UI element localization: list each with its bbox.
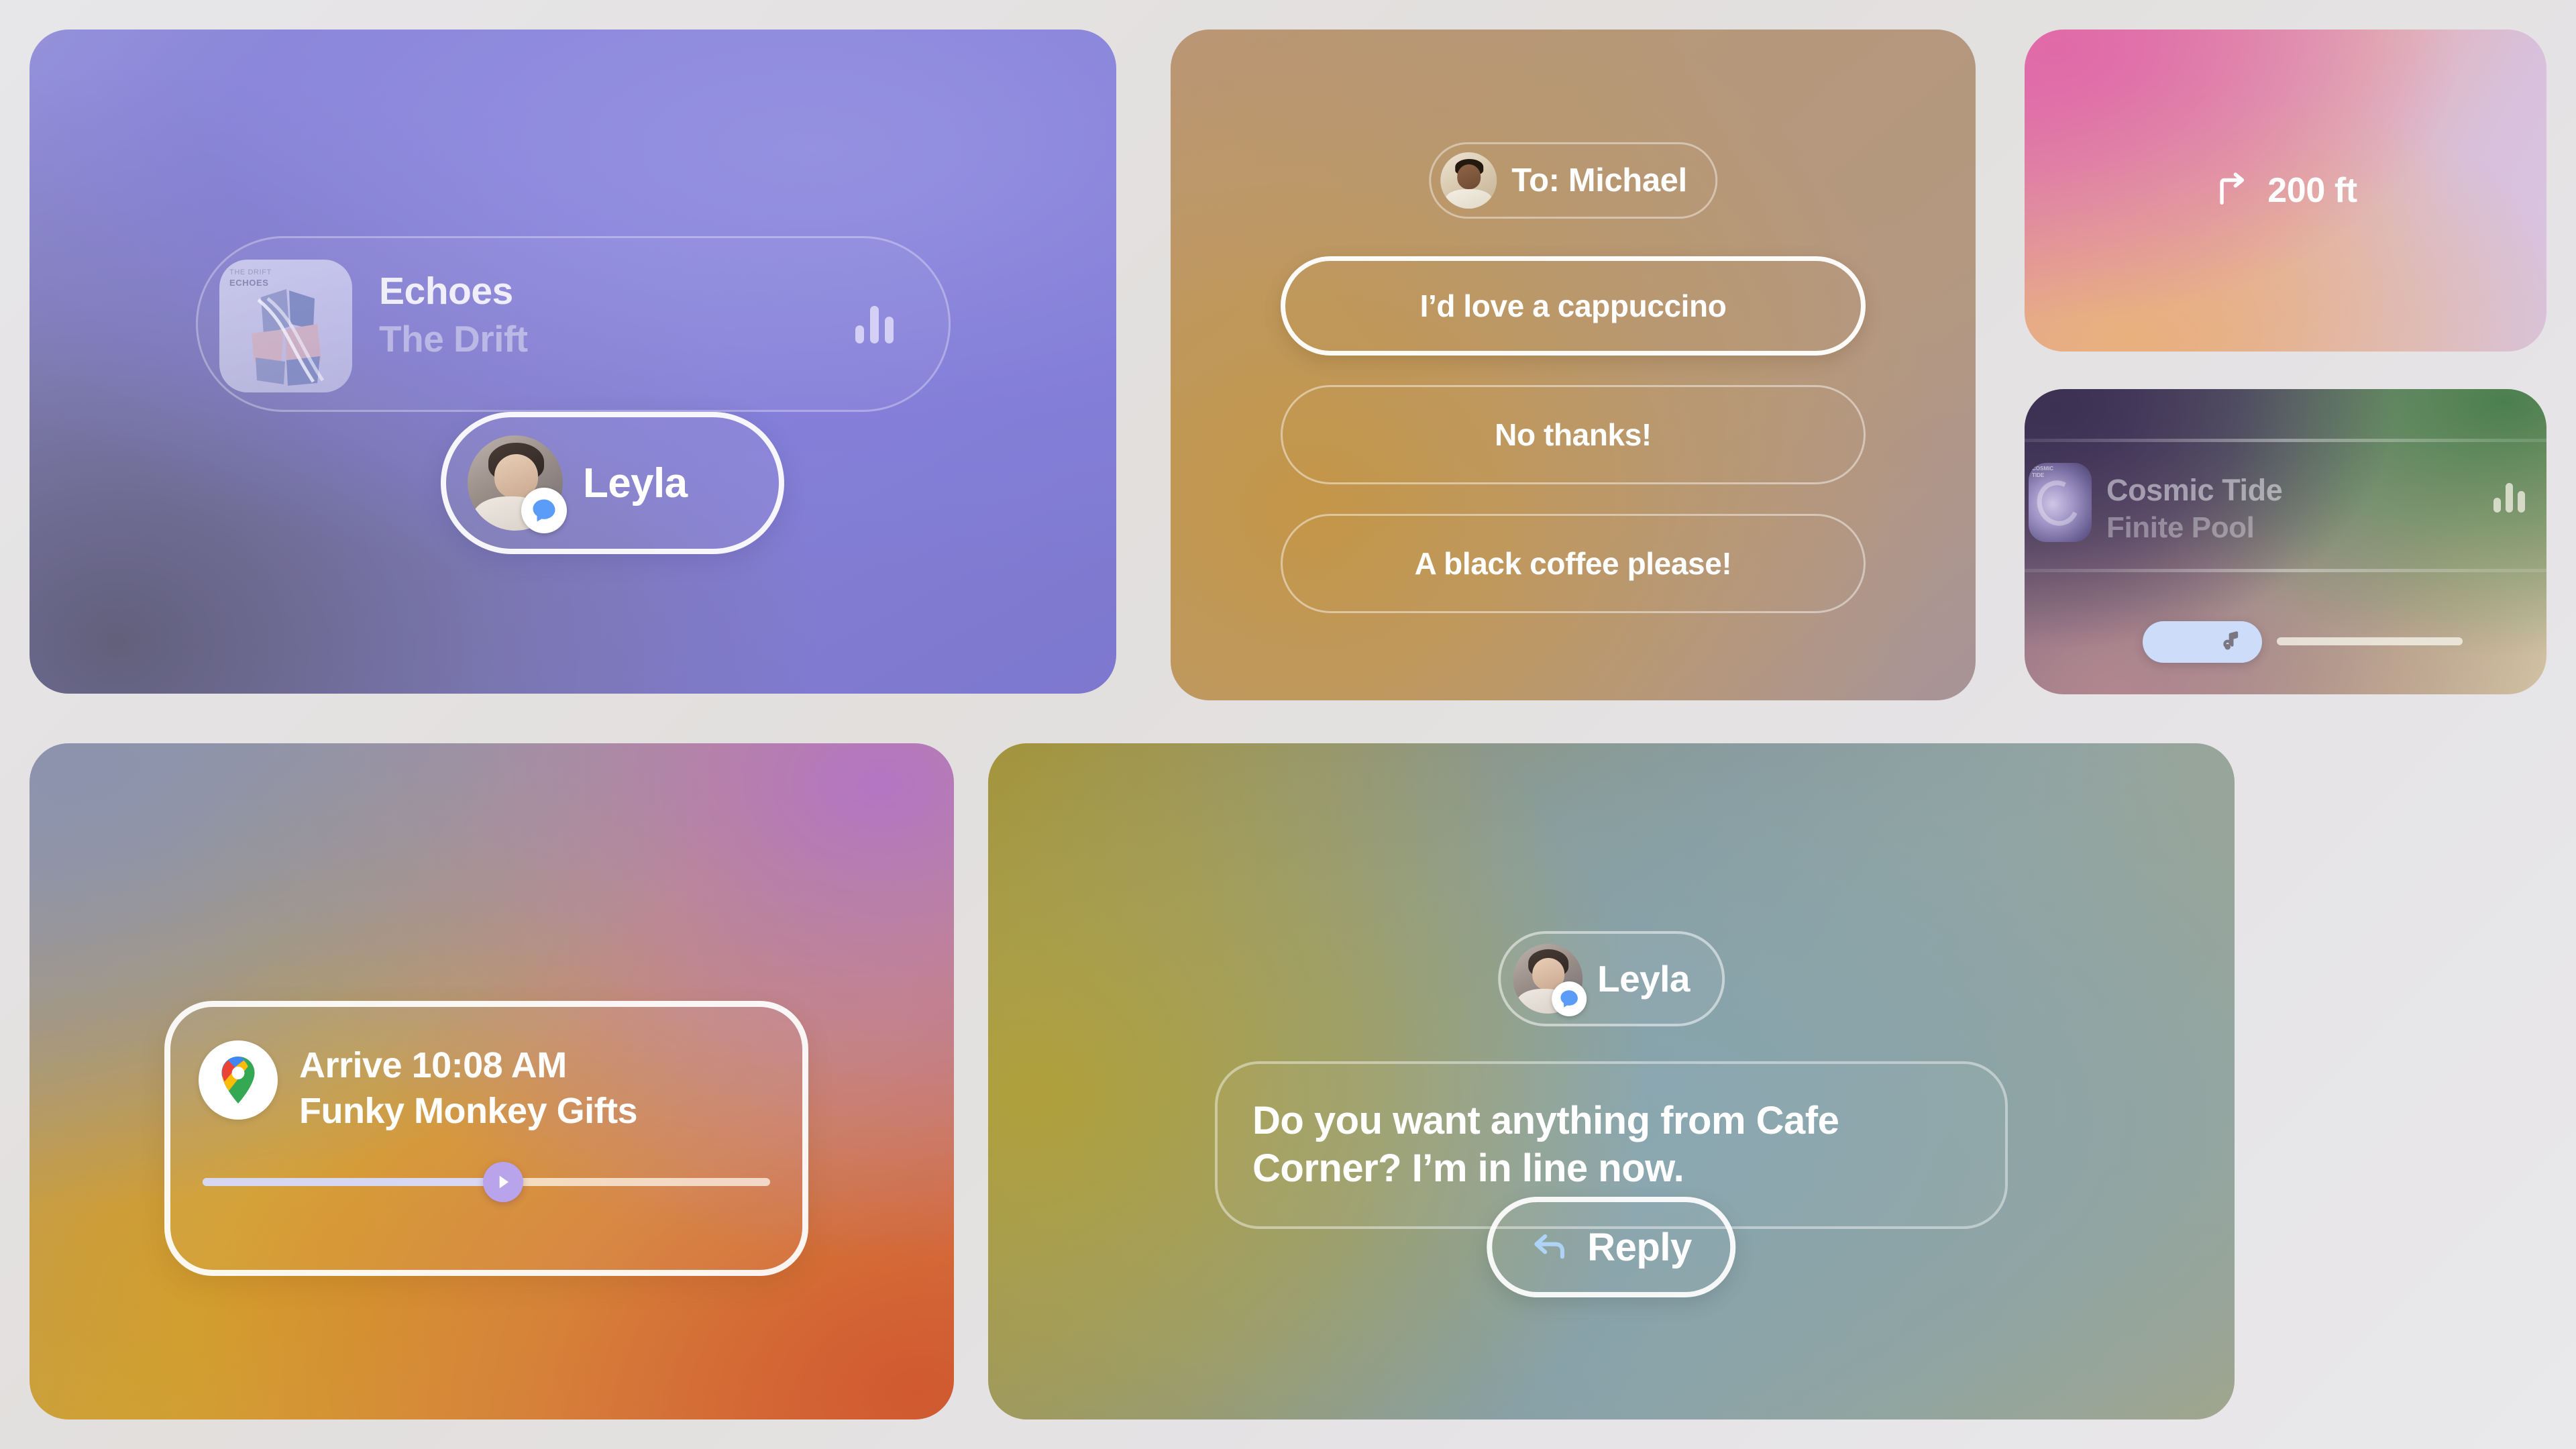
- now-playing-pill[interactable]: THE DRIFT ECHOES Echoes The Drift: [196, 236, 951, 412]
- arrival-progress-slider[interactable]: [203, 1176, 770, 1188]
- album-art-secondary-line1: COSMIC: [2032, 466, 2053, 472]
- music-progress-track[interactable]: [2277, 637, 2463, 645]
- reply-option-1[interactable]: No thanks!: [1281, 385, 1866, 484]
- google-maps-pin-icon: [199, 1040, 278, 1120]
- arrival-destination: Funky Monkey Gifts: [299, 1090, 637, 1132]
- album-art-secondary-line2: TIDE: [2032, 472, 2053, 479]
- navigate-arrow-icon[interactable]: [483, 1162, 523, 1202]
- navigation-distance-row: 200 ft: [2214, 170, 2357, 211]
- recipient-chip[interactable]: To: Michael: [1429, 142, 1717, 219]
- slider-fill: [203, 1178, 503, 1186]
- reply-option-label: I’d love a cappuccino: [1420, 288, 1727, 324]
- incoming-message-card[interactable]: Leyla Do you want anything from Cafe Cor…: [988, 743, 2235, 1419]
- navigation-distance-text: 200 ft: [2267, 170, 2357, 211]
- track-artist-secondary: Finite Pool: [2106, 511, 2254, 545]
- album-art: THE DRIFT ECHOES: [219, 260, 352, 392]
- track-title: Echoes: [379, 269, 513, 313]
- reply-option-0[interactable]: I’d love a cappuccino: [1281, 256, 1866, 356]
- reply-button-label: Reply: [1587, 1225, 1691, 1270]
- track-title-secondary: Cosmic Tide: [2106, 473, 2282, 508]
- equalizer-icon: [855, 305, 894, 343]
- notification-sender-name: Leyla: [583, 460, 688, 507]
- arrival-info-panel[interactable]: Arrive 10:08 AM Funky Monkey Gifts: [164, 1001, 808, 1276]
- divider-top: [2025, 439, 2546, 442]
- reply-option-2[interactable]: A black coffee please!: [1281, 514, 1866, 613]
- message-sender-chip[interactable]: Leyla: [1498, 931, 1725, 1026]
- messages-badge-icon: [521, 488, 567, 533]
- music-note-icon: [2216, 627, 2243, 657]
- widget-gallery: THE DRIFT ECHOES Echoes The Drift: [0, 0, 2576, 1449]
- reply-arrow-icon: [1531, 1227, 1568, 1268]
- messages-badge-icon: [1552, 981, 1587, 1016]
- secondary-now-playing-card[interactable]: COSMIC TIDE Cosmic Tide Finite Pool: [2025, 389, 2546, 694]
- arrival-card[interactable]: Arrive 10:08 AM Funky Monkey Gifts 8:32: [30, 743, 954, 1419]
- music-scrubber-thumb[interactable]: [2143, 621, 2262, 663]
- arrival-eta-label: Arrive 10:08 AM: [299, 1044, 567, 1086]
- suggested-replies-card[interactable]: To: Michael I’d love a cappuccino No tha…: [1171, 30, 1976, 700]
- avatar-michael: [1440, 152, 1497, 209]
- equalizer-icon-secondary: [2493, 482, 2525, 513]
- album-art-line2: ECHOES: [229, 278, 269, 288]
- turn-right-icon: [2214, 171, 2250, 211]
- reply-option-label: A black coffee please!: [1415, 545, 1732, 582]
- album-art-label: THE DRIFT ECHOES: [229, 268, 272, 288]
- recipient-label: To: Michael: [1511, 162, 1687, 199]
- divider-bottom: [2025, 569, 2546, 572]
- notification-chip-leyla[interactable]: Leyla: [441, 412, 784, 554]
- album-art-line1: THE DRIFT: [229, 268, 272, 278]
- reply-option-label: No thanks!: [1495, 417, 1652, 453]
- album-art-secondary: COSMIC TIDE: [2029, 463, 2092, 542]
- track-artist: The Drift: [379, 317, 528, 360]
- reply-button[interactable]: Reply: [1487, 1197, 1735, 1297]
- now-playing-card[interactable]: THE DRIFT ECHOES Echoes The Drift: [30, 30, 1116, 694]
- avatar-leyla: [1513, 944, 1582, 1014]
- album-art-secondary-label: COSMIC TIDE: [2032, 466, 2053, 478]
- avatar-leyla: [468, 435, 563, 531]
- message-sender-name: Leyla: [1597, 957, 1690, 1000]
- message-text: Do you want anything from Cafe Corner? I…: [1218, 1097, 2005, 1193]
- navigation-distance-card[interactable]: 200 ft: [2025, 30, 2546, 352]
